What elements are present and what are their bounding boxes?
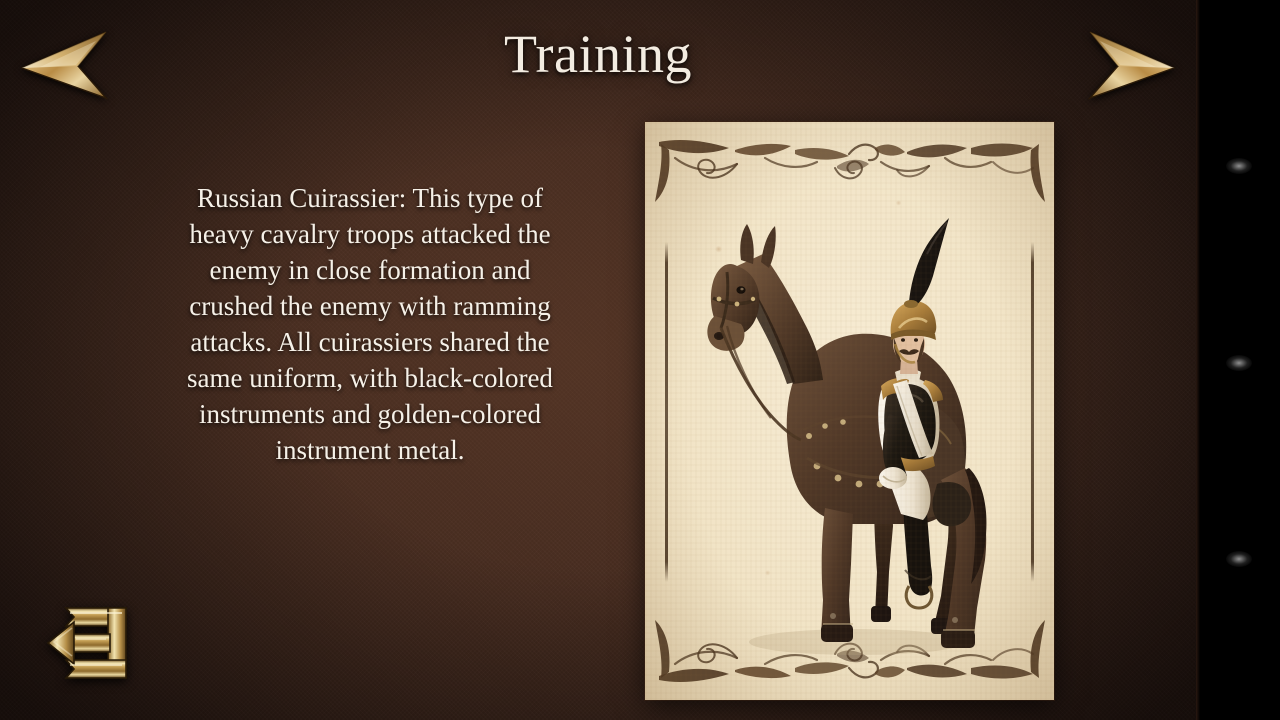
sidebar-edge — [1196, 0, 1200, 720]
card-rule-left — [665, 242, 668, 582]
card-rule-right — [1031, 242, 1034, 582]
right-sidebar — [1196, 0, 1280, 720]
back-button[interactable] — [44, 594, 134, 692]
next-page-arrow-icon[interactable] — [1086, 28, 1178, 102]
nav-dot-3[interactable] — [1226, 551, 1252, 567]
cuirassier-figure — [697, 168, 1017, 668]
prev-page-arrow-icon[interactable] — [18, 28, 110, 102]
nav-dot-2[interactable] — [1226, 355, 1252, 371]
training-screen: Training — [0, 0, 1280, 720]
unit-description: Russian Cuirassier: This type of heavy c… — [180, 180, 560, 468]
unit-illustration-card: Cuirassier — [645, 122, 1054, 700]
page-title: Training — [0, 24, 1196, 84]
nav-dot-1[interactable] — [1226, 158, 1252, 174]
